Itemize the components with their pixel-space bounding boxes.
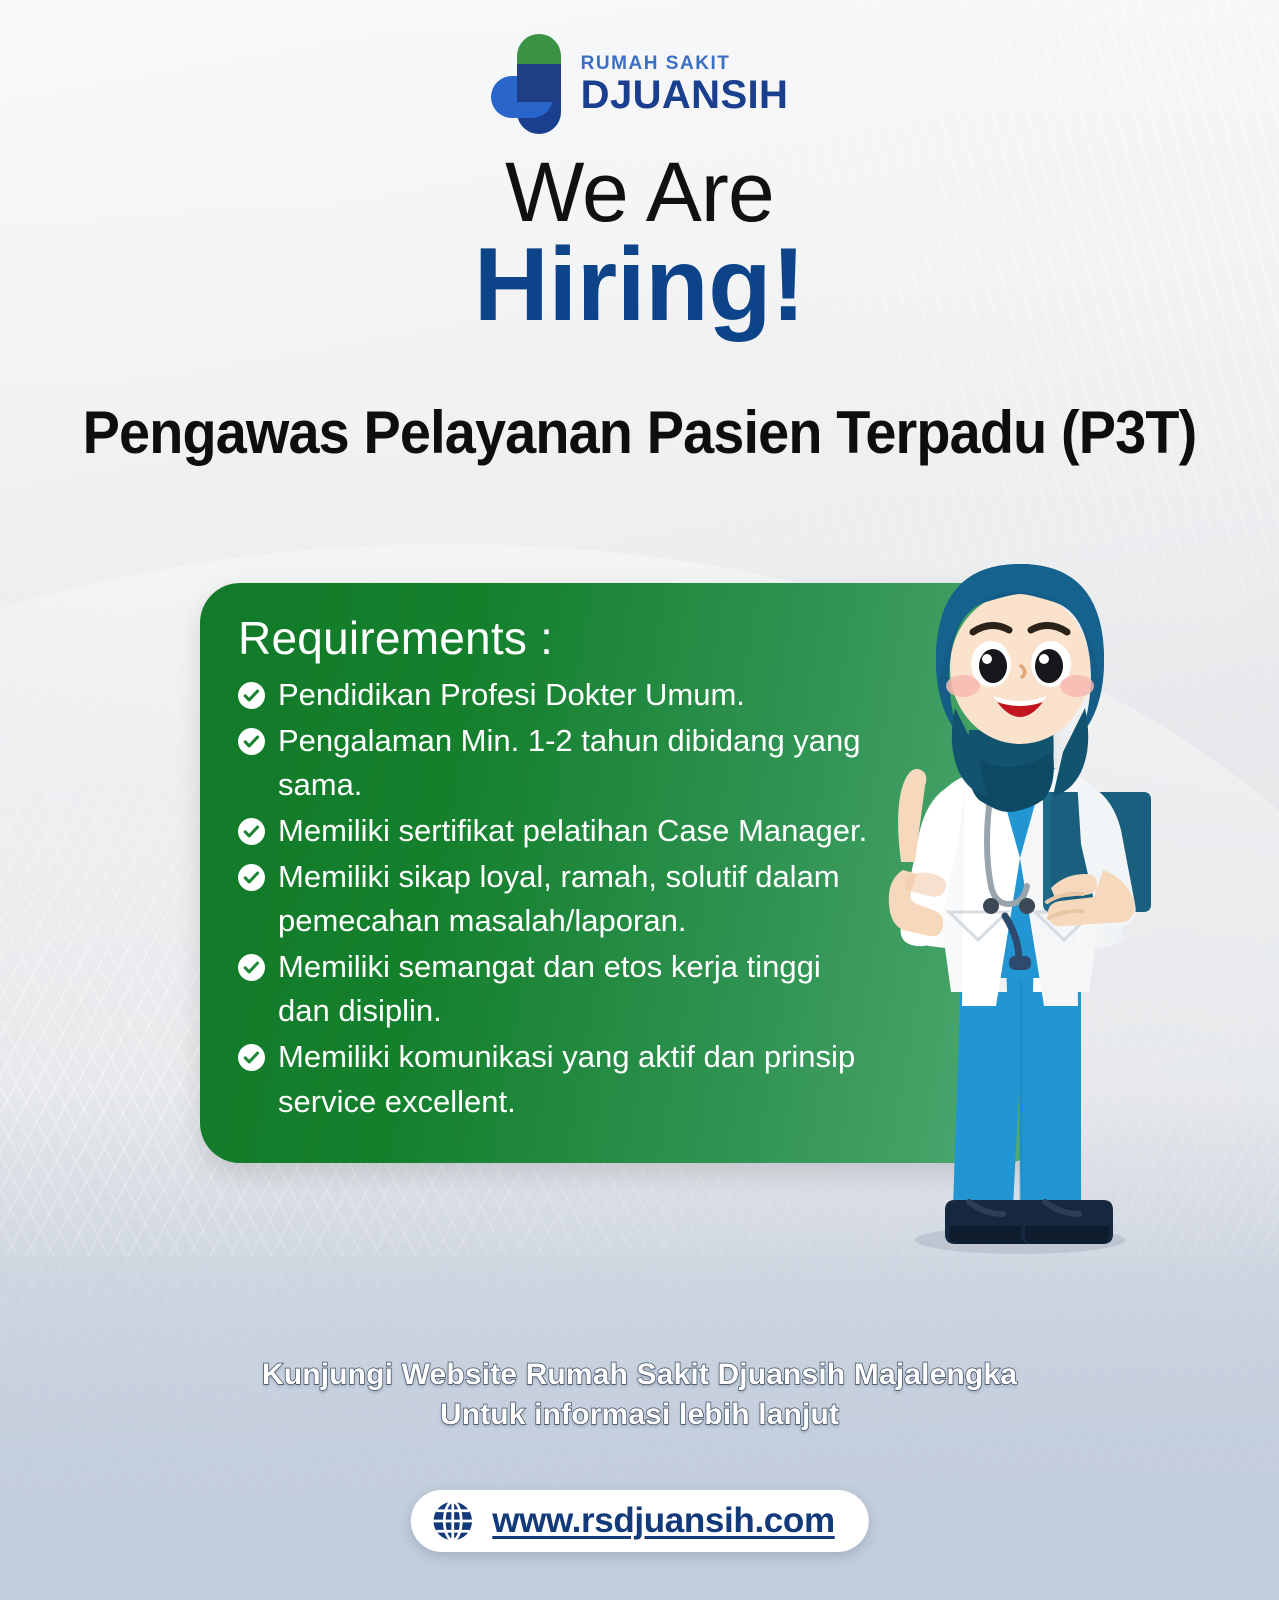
headline: We Are Hiring! [0, 150, 1279, 338]
list-item-label: Memiliki sertifikat pelatihan Case Manag… [278, 809, 867, 854]
list-item-label: Memiliki sikap loyal, ramah, solutif dal… [278, 855, 878, 944]
check-circle-icon [238, 682, 265, 709]
list-item-label: Memiliki komunikasi yang aktif dan prins… [278, 1035, 878, 1124]
globe-icon [430, 1499, 474, 1543]
list-item: Memiliki semangat dan etos kerja tinggi … [238, 945, 878, 1034]
list-item: Memiliki sikap loyal, ramah, solutif dal… [238, 855, 878, 944]
list-item: Pengalaman Min. 1-2 tahun dibidang yang … [238, 719, 878, 808]
check-circle-icon [238, 864, 265, 891]
footer-text: Kunjungi Website Rumah Sakit Djuansih Ma… [0, 1355, 1279, 1435]
headline-line-2: Hiring! [0, 232, 1279, 338]
footer-line-2: Untuk informasi lebih lanjut [0, 1395, 1279, 1435]
check-circle-icon [238, 1044, 265, 1071]
female-doctor-illustration [845, 540, 1195, 1260]
check-circle-icon [238, 954, 265, 981]
check-circle-icon [238, 818, 265, 845]
website-button[interactable]: www.rsdjuansih.com [410, 1490, 868, 1552]
list-item: Pendidikan Profesi Dokter Umum. [238, 673, 878, 718]
recruitment-poster: RUMAH SAKIT DJUANSIH We Are Hiring! Peng… [0, 0, 1279, 1600]
medical-cross-icon [491, 34, 569, 134]
logo-text: RUMAH SAKIT DJUANSIH [581, 54, 789, 115]
job-title: Pengawas Pelayanan Pasien Terpadu (P3T) [45, 393, 1234, 472]
website-url[interactable]: www.rsdjuansih.com [492, 1501, 834, 1541]
hospital-logo: RUMAH SAKIT DJUANSIH [0, 34, 1279, 134]
list-item-label: Pendidikan Profesi Dokter Umum. [278, 673, 745, 718]
logo-top-line: RUMAH SAKIT [581, 54, 789, 73]
logo-bottom-line: DJUANSIH [581, 75, 789, 115]
list-item-label: Pengalaman Min. 1-2 tahun dibidang yang … [278, 719, 878, 808]
list-item: Memiliki sertifikat pelatihan Case Manag… [238, 809, 878, 854]
headline-line-1: We Are [0, 150, 1279, 234]
list-item: Memiliki komunikasi yang aktif dan prins… [238, 1035, 878, 1124]
list-item-label: Memiliki semangat dan etos kerja tinggi … [278, 945, 878, 1034]
footer-line-1: Kunjungi Website Rumah Sakit Djuansih Ma… [0, 1355, 1279, 1395]
check-circle-icon [238, 728, 265, 755]
